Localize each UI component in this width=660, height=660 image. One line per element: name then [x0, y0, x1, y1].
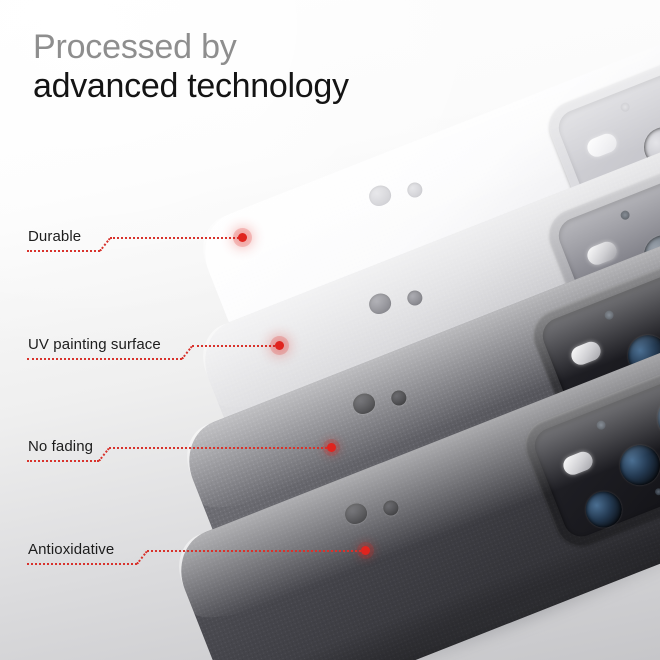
sensor-dot-icon	[619, 101, 631, 113]
camera-lens-icon	[614, 439, 660, 491]
sensor-dot-icon	[619, 209, 631, 221]
flash-icon	[569, 339, 604, 368]
headline-line-2: advanced technology	[33, 66, 349, 106]
camera-lens-icon	[580, 486, 627, 533]
product-feature-image: Processed by advanced technology	[0, 0, 660, 660]
sensor-dot-icon	[603, 309, 615, 321]
flash-icon	[585, 131, 620, 160]
sensor-dot-icon	[595, 419, 607, 431]
headline-line-1: Processed by	[33, 28, 349, 66]
camera-lens-icon	[651, 388, 660, 448]
sensor-dot-icon	[654, 487, 660, 496]
flash-icon	[561, 449, 596, 478]
headline-block: Processed by advanced technology	[33, 28, 349, 106]
